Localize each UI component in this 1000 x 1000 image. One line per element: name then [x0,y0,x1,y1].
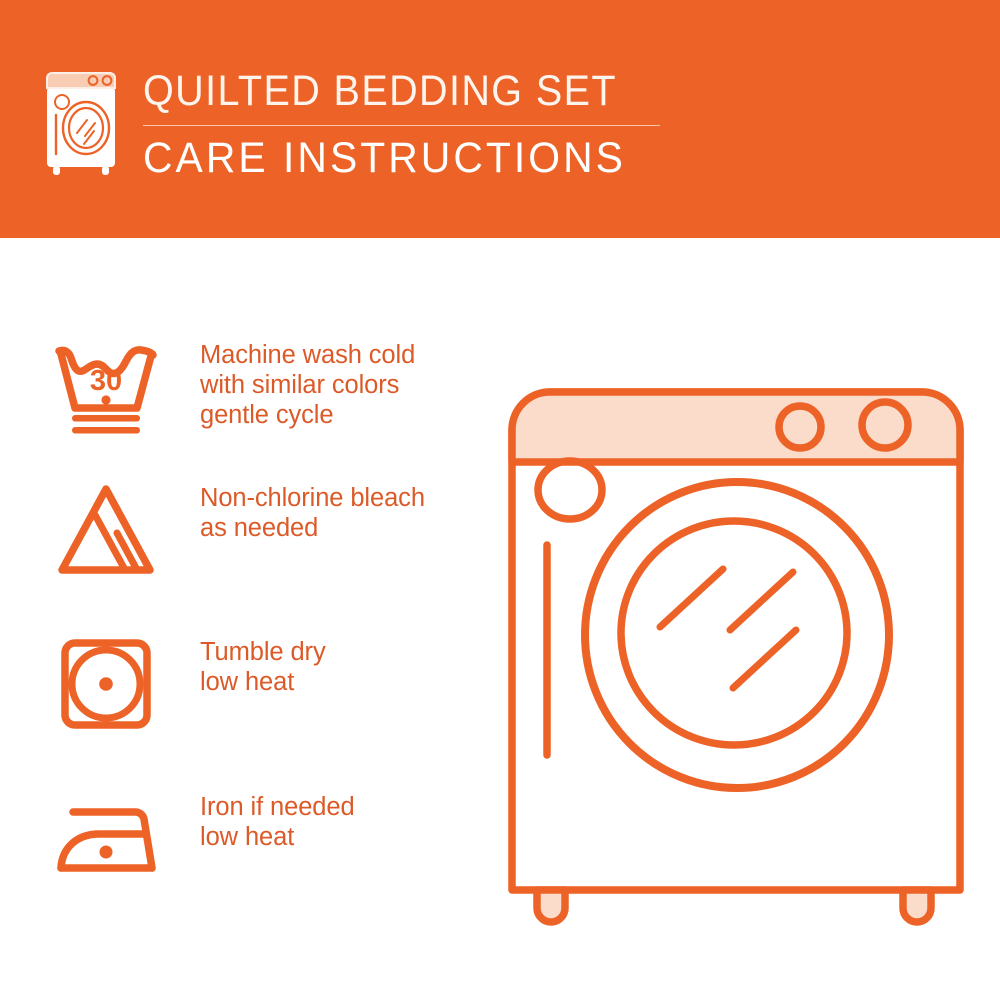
header-title-block: QUILTED BEDDING SET CARE INSTRUCTIONS [143,66,703,183]
wash-temperature-label: 30 [90,365,122,397]
care-row-iron: Iron if needed low heat [48,790,355,890]
non-chlorine-bleach-triangle-icon [48,481,164,581]
tumble-dry-low-heat-icon [48,635,164,735]
care-row-bleach: Non-chlorine bleach as needed [48,481,425,581]
care-label-machine-wash: Machine wash cold with similar colors ge… [164,338,415,430]
care-row-tumble-dry: Tumble dry low heat [48,635,326,735]
iron-low-heat-icon [48,790,164,890]
washing-machine-icon [44,70,122,178]
care-row-machine-wash: 30 Machine wash cold with similar colors… [48,338,415,438]
care-label-iron: Iron if needed low heat [164,790,355,852]
wash-tub-30-gentle-icon: 30 [48,338,164,438]
page-subtitle: CARE INSTRUCTIONS [143,133,675,183]
page-title: QUILTED BEDDING SET [143,66,658,116]
care-instructions-page: QUILTED BEDDING SET CARE INSTRUCTIONS 30 [0,0,1000,1000]
title-divider [143,125,660,126]
page-header: QUILTED BEDDING SET CARE INSTRUCTIONS [0,0,1000,238]
care-label-bleach: Non-chlorine bleach as needed [164,481,425,543]
care-label-tumble-dry: Tumble dry low heat [164,635,326,697]
washing-machine-illustration [490,330,980,950]
